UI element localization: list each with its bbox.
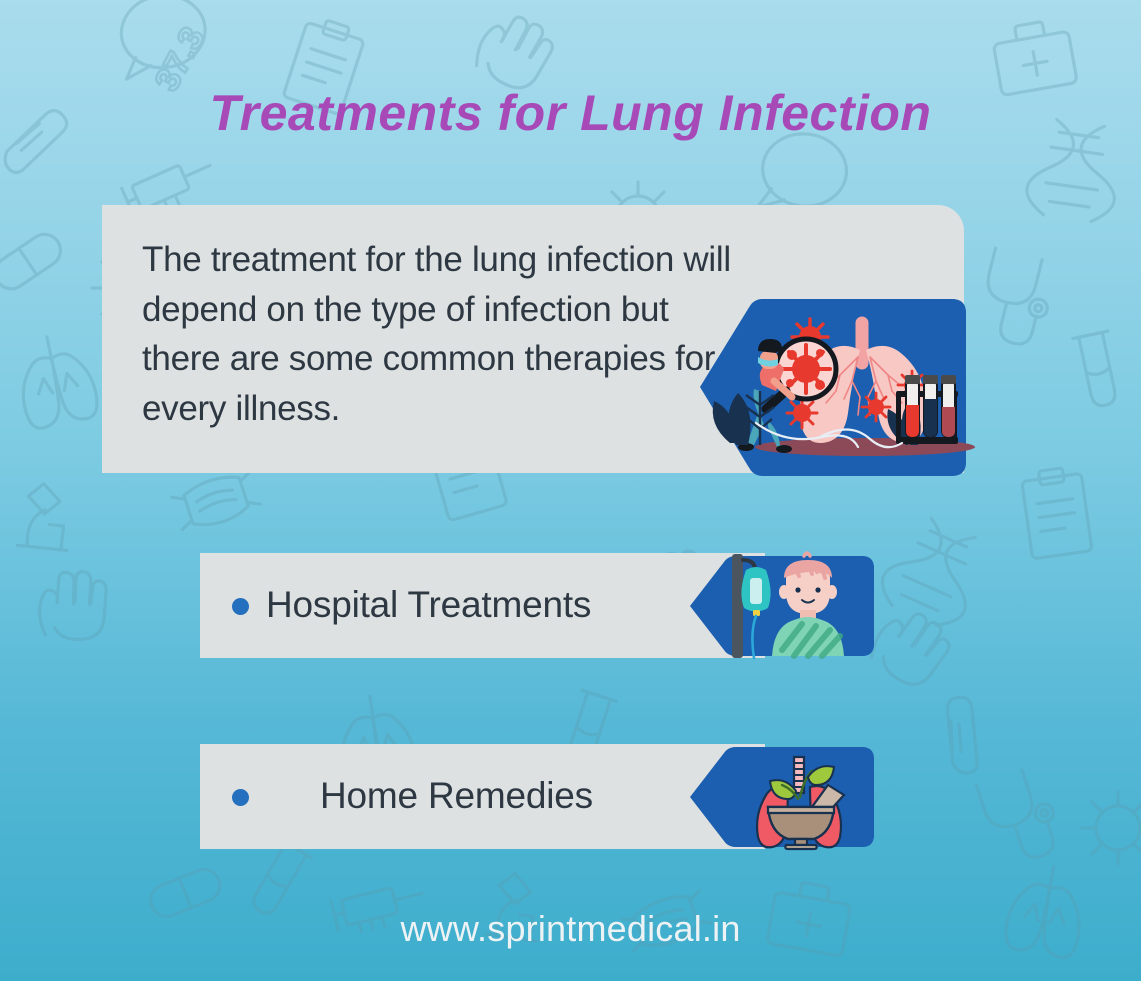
intro-text: The treatment for the lung infection wil…: [142, 235, 742, 434]
infographic-poster: 37.3: [0, 0, 1141, 981]
bullet-icon: [232, 598, 249, 615]
patient-with-iv-drip-illustration: [690, 550, 880, 662]
footer-website-url[interactable]: www.sprintmedical.in: [0, 908, 1141, 950]
list-item-label: Hospital Treatments: [266, 584, 591, 626]
intro-card: The treatment for the lung infection wil…: [102, 205, 964, 473]
page-title: Treatments for Lung Infection: [0, 84, 1141, 142]
list-item-label: Home Remedies: [320, 775, 593, 817]
bullet-icon: [232, 789, 249, 806]
mortar-pestle-herbs-lungs-illustration: [690, 741, 880, 853]
lungs-virus-research-illustration: [700, 295, 978, 480]
list-item[interactable]: Hospital Treatments: [200, 553, 765, 658]
list-item[interactable]: Home Remedies: [200, 744, 765, 849]
